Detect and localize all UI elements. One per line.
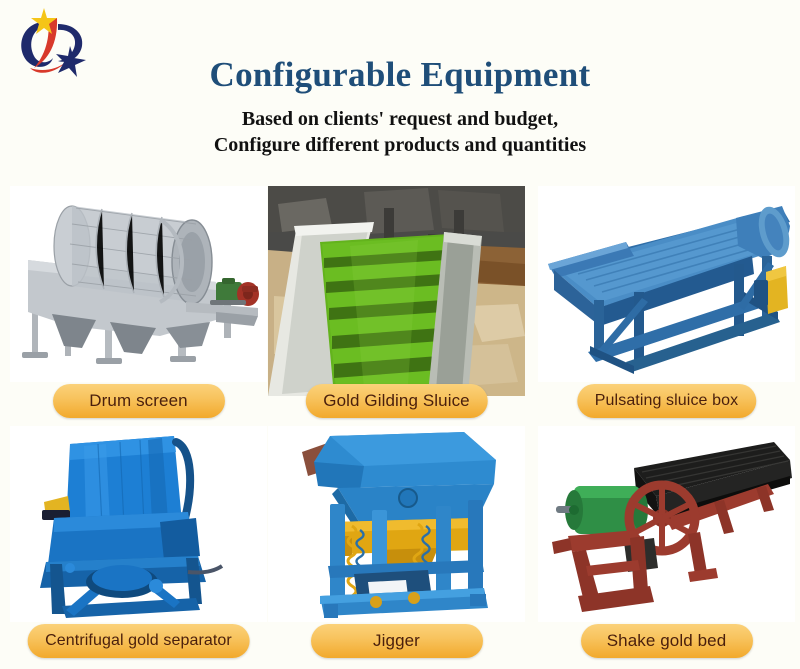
page-header: Configurable Equipment Based on clients'… xyxy=(0,56,800,158)
product-card-drum-screen[interactable]: Drum screen xyxy=(10,186,267,424)
product-label-text: Centrifugal gold separator xyxy=(45,632,232,650)
product-label-text: Gold Gilding Sluice xyxy=(323,391,469,411)
pulsating-sluice-box-photo xyxy=(538,186,795,382)
product-card-centrifugal-gold-separator[interactable]: Centrifugal gold separator xyxy=(10,426,267,664)
product-label-text: Drum screen xyxy=(89,391,187,411)
product-label-pill[interactable]: Drum screen xyxy=(53,384,225,418)
product-label-text: Pulsating sluice box xyxy=(595,392,738,410)
shake-gold-bed-photo xyxy=(538,426,795,622)
centrifugal-gold-separator-photo xyxy=(10,426,267,622)
page-subtitle: Based on clients' request and budget, Co… xyxy=(0,106,800,158)
product-grid: Drum screen xyxy=(0,186,800,669)
subtitle-line-2: Configure different products and quantit… xyxy=(0,132,800,158)
subtitle-line-1: Based on clients' request and budget, xyxy=(0,106,800,132)
product-label-pill[interactable]: Shake gold bed xyxy=(581,624,753,658)
jigger-photo xyxy=(268,426,525,622)
product-card-gold-gilding-sluice[interactable]: Gold Gilding Sluice xyxy=(268,186,525,424)
page-title: Configurable Equipment xyxy=(0,56,800,95)
product-label-pill[interactable]: Centrifugal gold separator xyxy=(27,624,250,658)
product-label-pill[interactable]: Pulsating sluice box xyxy=(577,384,756,418)
product-card-pulsating-sluice-box[interactable]: Pulsating sluice box xyxy=(538,186,795,424)
product-label-text: Shake gold bed xyxy=(607,631,727,651)
drum-screen-photo xyxy=(10,186,267,382)
product-label-pill[interactable]: Gold Gilding Sluice xyxy=(305,384,487,418)
product-label-pill[interactable]: Jigger xyxy=(311,624,483,658)
gold-gilding-sluice-photo xyxy=(268,186,525,396)
product-card-shake-gold-bed[interactable]: Shake gold bed xyxy=(538,426,795,664)
product-card-jigger[interactable]: Jigger xyxy=(268,426,525,664)
product-label-text: Jigger xyxy=(373,631,420,651)
